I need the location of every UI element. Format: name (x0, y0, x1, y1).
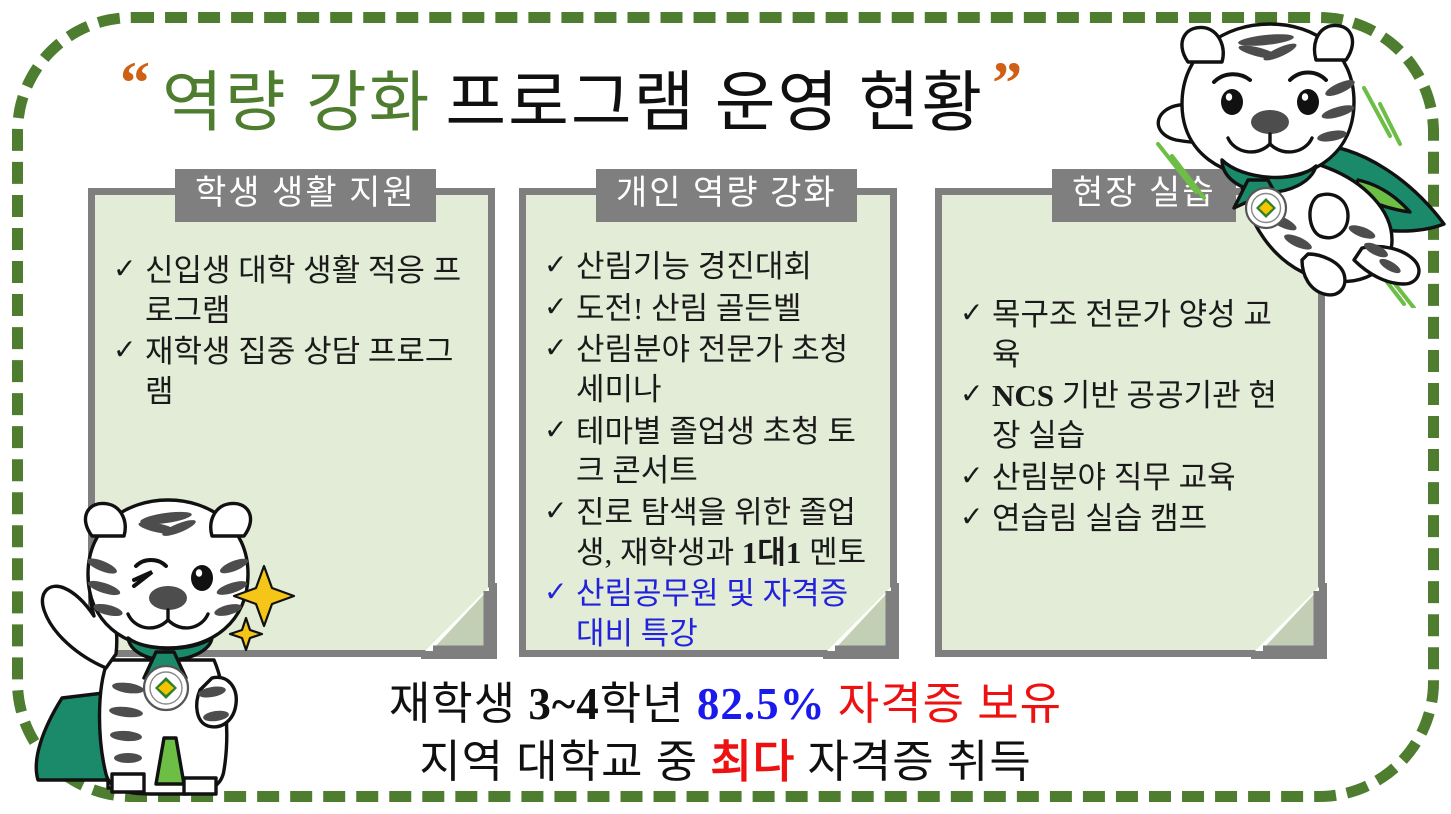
summary-l1-p3: 자격증 보유 (826, 679, 1063, 729)
summary-l2-p1: 지역 대학교 중 (419, 737, 710, 787)
list-item-label: 산림기능 경진대회 (576, 247, 870, 287)
page-title: “ 역량 강화 프로그램 운영 현황 ” (120, 42, 1200, 152)
title-rest: 프로그램 운영 현황 (445, 49, 984, 145)
open-quote-icon: “ (120, 53, 150, 113)
list-item: ✓ 산림기능 경진대회 (544, 247, 870, 287)
card-items-individual-competency: ✓ 산림기능 경진대회 ✓ 도전! 산림 골든벨 ✓ 산림분야 전문가 초청 세… (544, 247, 870, 656)
summary-l2-p2: 자격증 취득 (795, 737, 1032, 787)
list-item: ✓ 산림분야 전문가 초청 세미나 (544, 330, 870, 409)
list-item-label: 테마별 졸업생 초청 토크 콘서트 (576, 412, 870, 491)
list-item-label: 도전! 산림 골든벨 (576, 289, 870, 329)
card-header-individual-competency: 개인 역량 강화 (596, 169, 857, 222)
card-edge-bottom (935, 650, 1259, 657)
list-item: ✓ 테마별 졸업생 초청 토크 콘서트 (544, 412, 870, 491)
summary-grade: 3~4 (528, 679, 599, 729)
check-icon: ✓ (960, 458, 992, 496)
check-icon: ✓ (544, 247, 576, 285)
tiger-mascot-flying (1118, 8, 1451, 308)
check-icon: ✓ (544, 289, 576, 327)
card-items-student-life-support: ✓ 신입생 대학 생활 적응 프로그램 ✓ 재학생 집중 상담 프로그램 (113, 251, 468, 414)
folded-corner (421, 583, 495, 657)
title-highlight: 역량 강화 (162, 49, 431, 145)
tiger-mascot-pointing (16, 492, 316, 802)
check-icon: ✓ (113, 332, 145, 370)
summary-highlight: 최다 (710, 737, 795, 787)
list-item-label: 산림분야 직무 교육 (992, 458, 1298, 498)
card-header-student-life-support: 학생 생활 지원 (175, 169, 436, 222)
list-item-label: 연습림 실습 캠프 (992, 499, 1298, 539)
check-icon: ✓ (544, 493, 576, 531)
list-item: ✓ 재학생 집중 상담 프로그램 (113, 332, 468, 411)
check-icon: ✓ (544, 574, 576, 612)
list-item: ✓ 연습림 실습 캠프 (960, 499, 1298, 539)
list-item-label: 산림분야 전문가 초청 세미나 (576, 330, 870, 409)
check-icon: ✓ (960, 499, 992, 537)
list-item-label: 재학생 집중 상담 프로그램 (145, 332, 468, 411)
card-edge-right (488, 188, 495, 650)
list-item: ✓ 신입생 대학 생활 적응 프로그램 (113, 251, 468, 330)
list-item-label: 진로 탐색을 위한 졸업생, 재학생과 1대1 멘토 (576, 493, 870, 572)
list-item-label: NCS 기반 공공기관 현장 실습 (992, 376, 1298, 455)
list-item: ✓ 도전! 산림 골든벨 (544, 289, 870, 329)
list-item: ✓ 산림분야 직무 교육 (960, 458, 1298, 498)
check-icon: ✓ (544, 330, 576, 368)
check-icon: ✓ (544, 412, 576, 450)
summary-l1-p2: 학년 (600, 679, 697, 729)
list-item-label: 신입생 대학 생활 적응 프로그램 (145, 251, 468, 330)
check-icon: ✓ (960, 376, 992, 414)
summary-percent: 82.5% (697, 679, 826, 729)
list-item: ✓ NCS 기반 공공기관 현장 실습 (960, 376, 1298, 455)
folded-corner (1251, 583, 1325, 657)
card-edge-right (890, 188, 897, 650)
infographic-canvas: “ 역량 강화 프로그램 운영 현황 ” 학생 생활 지원 ✓ 신입생 대학 생… (0, 0, 1451, 814)
list-item-label: 산림공무원 및 자격증 대비 특강 (576, 574, 870, 653)
close-quote-icon: ” (992, 53, 1022, 113)
list-item: ✓ 산림공무원 및 자격증 대비 특강 (544, 574, 870, 653)
check-icon: ✓ (113, 251, 145, 289)
summary-l1-p1: 재학생 (389, 679, 528, 729)
check-icon: ✓ (960, 295, 992, 333)
list-item: ✓ 진로 탐색을 위한 졸업생, 재학생과 1대1 멘토 (544, 493, 870, 572)
card-items-field-practice: ✓ 목구조 전문가 양성 교육 ✓ NCS 기반 공공기관 현장 실습 ✓ 산림… (960, 295, 1298, 541)
card-individual-competency: 개인 역량 강화 ✓ 산림기능 경진대회 ✓ 도전! 산림 골든벨 ✓ 산림분야… (519, 188, 890, 650)
